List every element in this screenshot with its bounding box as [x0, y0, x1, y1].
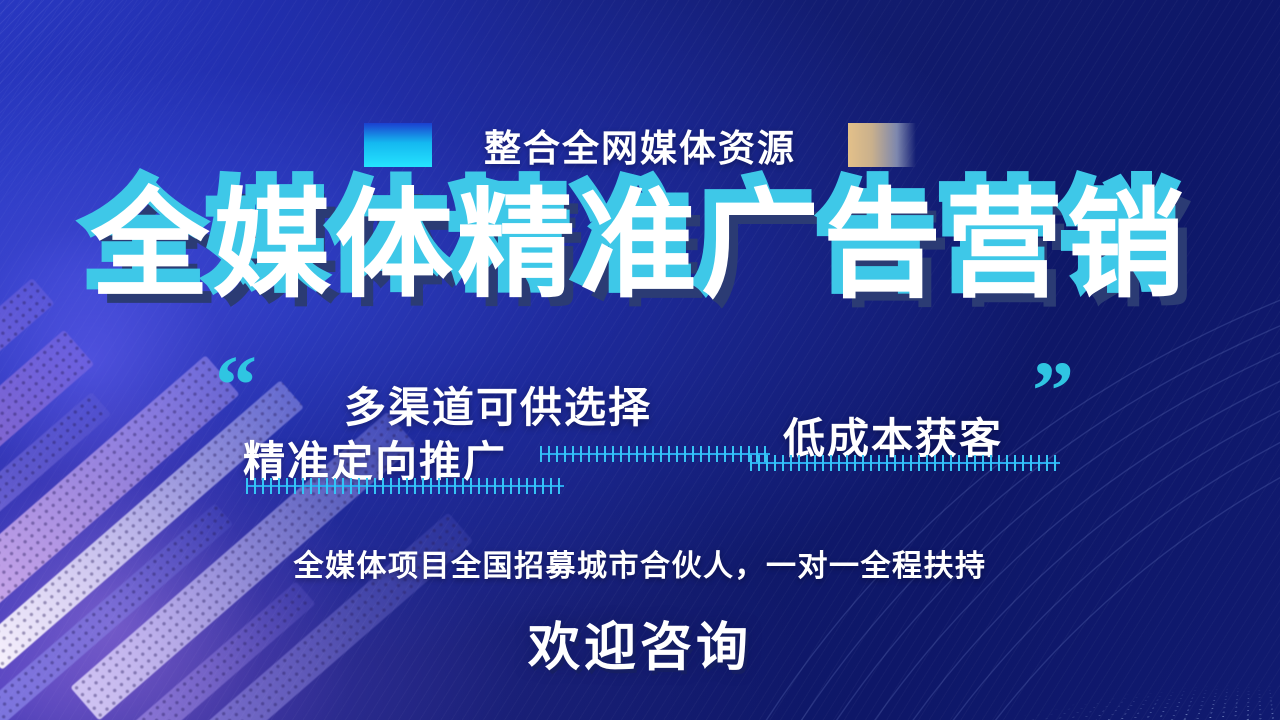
- headline-wrap: 全媒体精准广告营销 全媒体精准广告营销 全媒体精准广告营销: [0, 186, 1280, 306]
- decor-rule-one: [540, 446, 770, 462]
- headline-fill-layer: 全媒体精准广告营销: [91, 186, 1189, 306]
- decor-rule-three: [750, 455, 1060, 471]
- recruitment-line: 全媒体项目全国招募城市合伙人，一对一全程扶持: [0, 541, 1280, 585]
- banner-content: 整合全网媒体资源 全媒体精准广告营销 全媒体精准广告营销 全媒体精准广告营销 “…: [0, 0, 1280, 720]
- quote-open-icon: “: [215, 352, 257, 419]
- decor-rule-two: [246, 478, 564, 494]
- tagline-multi-channel: 多渠道可供选择: [344, 374, 652, 435]
- promo-banner: 整合全网媒体资源 全媒体精准广告营销 全媒体精准广告营销 全媒体精准广告营销 “…: [0, 0, 1280, 720]
- subtitle-row: 整合全网媒体资源: [0, 118, 1280, 172]
- gold-gradient-square-icon: [848, 123, 916, 167]
- banner-subtitle: 整合全网媒体资源: [484, 118, 796, 172]
- quote-close-icon: ”: [1032, 358, 1074, 425]
- call-to-action: 欢迎咨询: [0, 605, 1280, 680]
- banner-headline: 全媒体精准广告营销 全媒体精准广告营销 全媒体精准广告营销: [91, 186, 1189, 306]
- cyan-gradient-square-icon: [364, 123, 432, 167]
